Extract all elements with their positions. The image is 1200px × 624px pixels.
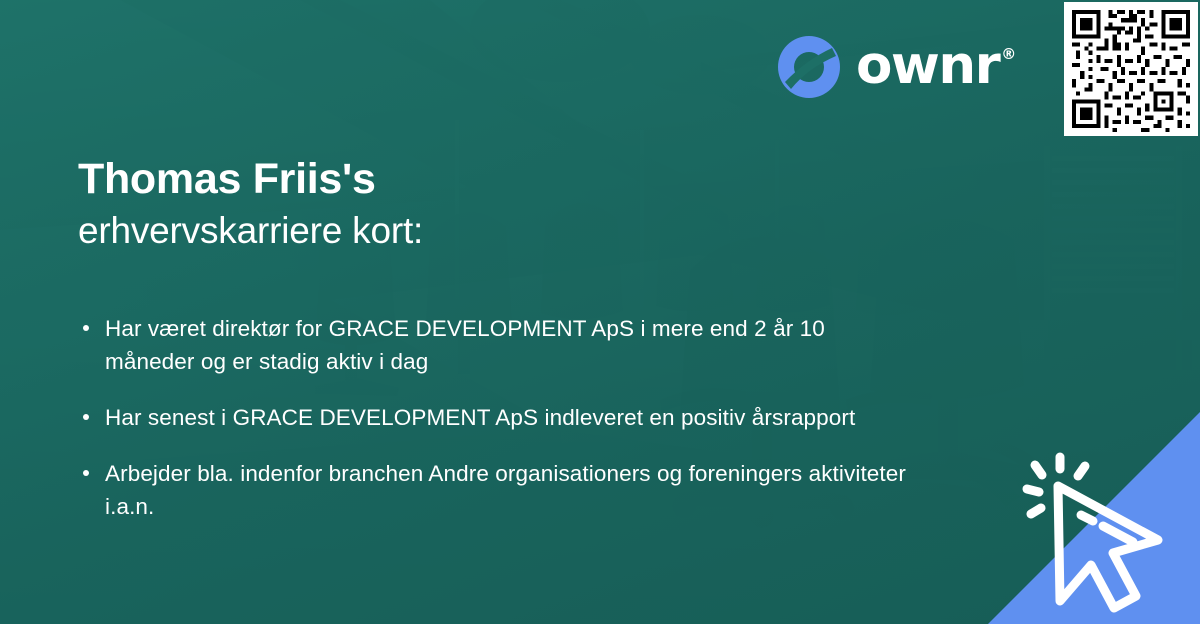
page-title: Thomas Friis's erhvervskarriere kort: (78, 152, 778, 256)
page-title-line2: erhvervskarriere kort: (78, 206, 778, 256)
bullet-dot-icon (83, 470, 89, 476)
career-highlights-list: Har været direktør for GRACE DEVELOPMENT… (78, 312, 908, 523)
bullet-dot-icon (83, 414, 89, 420)
ownr-wordmark-text: ownr (856, 35, 999, 96)
registered-mark: ® (1001, 45, 1015, 63)
ownr-logo[interactable]: ownr® (776, 34, 1013, 100)
list-item: Har været direktør for GRACE DEVELOPMENT… (78, 312, 908, 378)
ownr-swirl-mark (776, 34, 842, 100)
ownr-wordmark: ownr® (856, 39, 1013, 92)
bullet-dot-icon (83, 325, 89, 331)
qr-code[interactable] (1064, 2, 1198, 136)
career-summary-card: ownr® Thomas Friis's erhvervskarriere ko… (0, 0, 1200, 624)
list-item: Arbejder bla. indenfor branchen Andre or… (78, 457, 908, 523)
list-item-text: Har senest i GRACE DEVELOPMENT ApS indle… (105, 405, 855, 430)
list-item-text: Har været direktør for GRACE DEVELOPMENT… (105, 316, 825, 374)
list-item: Har senest i GRACE DEVELOPMENT ApS indle… (78, 401, 908, 434)
list-item-text: Arbejder bla. indenfor branchen Andre or… (105, 461, 906, 519)
page-title-line1: Thomas Friis's (78, 152, 778, 206)
